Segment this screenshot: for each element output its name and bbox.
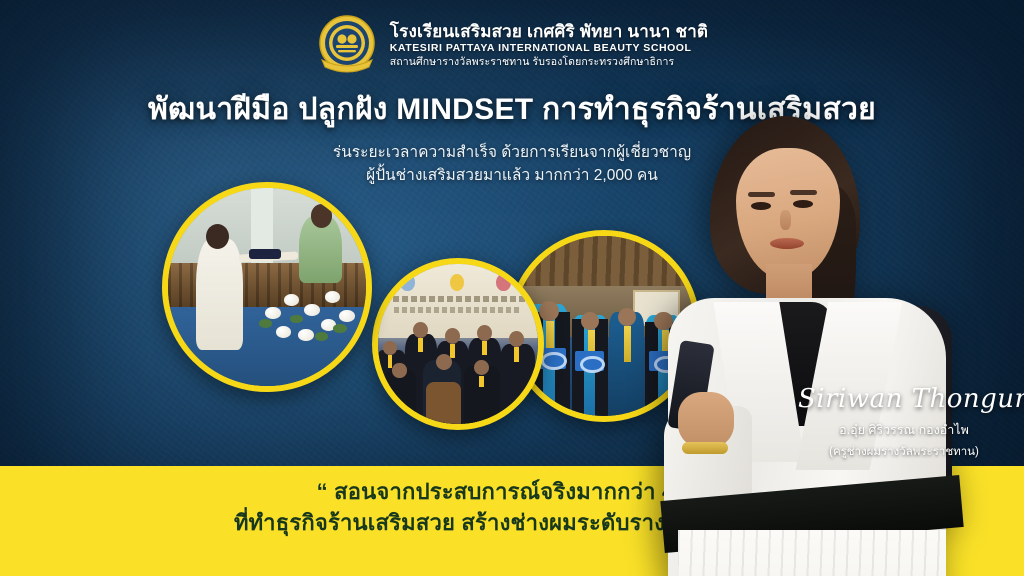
school-name-en: KATESIRI PATTAYA INTERNATIONAL BEAUTY SC…: [390, 43, 708, 55]
school-crest-icon: [316, 14, 378, 76]
instructor-name-th: อ.อุ๋ย ศิริวรรณ กองอำไพ: [798, 420, 1010, 440]
students-group-photo: [372, 258, 544, 430]
header-text-block: โรงเรียนเสริมสวย เกศศิริ พัทยา นานา ชาติ…: [390, 22, 708, 69]
quote-open-mark: “: [317, 479, 328, 504]
poster-canvas: โรงเรียนเสริมสวย เกศศิริ พัทยา นานา ชาติ…: [0, 0, 1024, 576]
instructor-role-th: (ครูช่างผมรางวัลพระราชทาน): [798, 443, 1010, 461]
royal-award-ceremony-photo: [162, 182, 372, 392]
signature-script: Siriwan Thongumpai: [798, 386, 1010, 412]
signature-block: Siriwan Thongumpai อ.อุ๋ย ศิริวรรณ กองอำ…: [798, 386, 1010, 461]
accreditation-line: สถานศึกษารางวัลพระราชทาน รับรองโดยกระทรว…: [390, 57, 708, 69]
header: โรงเรียนเสริมสวย เกศศิริ พัทยา นานา ชาติ…: [0, 14, 1024, 76]
quote-line-1: สอนจากประสบการณ์จริงมากกว่า 40 ปี: [334, 479, 707, 504]
instructor-portrait: [662, 106, 962, 576]
school-name-th: โรงเรียนเสริมสวย เกศศิริ พัทยา นานา ชาติ: [390, 22, 708, 41]
